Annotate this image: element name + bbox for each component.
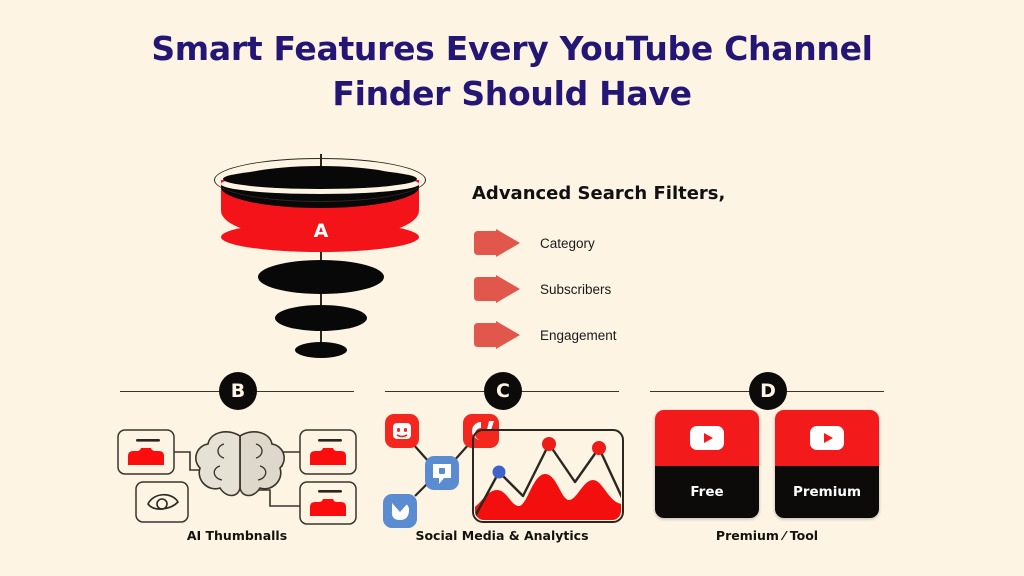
page-title-line-2: Finder Should Have — [0, 71, 1024, 116]
panel-badge-b: B — [219, 372, 257, 410]
youtube-play-icon — [690, 426, 724, 450]
filter-item-engagement: Engagement — [472, 318, 792, 352]
filter-item-subscribers: Subscribers — [472, 272, 792, 306]
youtube-play-icon — [810, 426, 844, 450]
plan-card-free[interactable]: Free — [655, 410, 759, 518]
page-title: Smart Features Every YouTube Channel Fin… — [0, 26, 1024, 116]
filter-label-engagement: Engagement — [540, 328, 617, 343]
brain-thumbnails-art — [112, 408, 362, 528]
plan-card-free-bottom: Free — [655, 466, 759, 518]
funnel-outline-ring — [214, 158, 426, 202]
advanced-search-filters: Advanced Search Filters, Category Subscr… — [472, 183, 792, 364]
plan-cards: Free Premium — [655, 410, 879, 518]
funnel-badge-a: A — [205, 220, 437, 242]
page-title-line-1: Smart Features Every YouTube Channel — [0, 26, 1024, 71]
filter-label-category: Category — [540, 236, 595, 251]
social-analytics-art — [377, 408, 627, 528]
funnel-graphic: A — [205, 152, 437, 364]
panel-badge-d: D — [749, 372, 787, 410]
panel-caption-c: Social Media & Analytics — [377, 528, 627, 543]
panel-badge-c: C — [484, 372, 522, 410]
funnel-disc-1 — [258, 260, 384, 294]
plan-label-free: Free — [690, 484, 723, 500]
thumbnail-card — [300, 482, 356, 524]
arrow-right-icon — [472, 275, 522, 303]
panel-caption-d: Premium ⁄ Tool — [642, 528, 892, 543]
panel-caption-b: AI Thumbnalls — [112, 528, 362, 543]
thumbnail-card — [118, 430, 174, 474]
panel-ai-thumbnails: B — [112, 378, 362, 553]
plan-label-premium: Premium — [793, 484, 861, 500]
plan-card-premium-top — [775, 410, 879, 466]
chat-bubble-icon — [425, 456, 459, 490]
plan-card-premium-bottom: Premium — [775, 466, 879, 518]
face-icon — [385, 414, 419, 448]
bird-icon — [383, 494, 417, 528]
preview-card — [136, 482, 188, 522]
plan-card-premium[interactable]: Premium — [775, 410, 879, 518]
filter-label-subscribers: Subscribers — [540, 282, 611, 297]
filter-item-category: Category — [472, 226, 792, 260]
plan-card-free-top — [655, 410, 759, 466]
arrow-right-icon — [472, 321, 522, 349]
thumbnail-card — [300, 430, 356, 474]
arrow-right-icon — [472, 229, 522, 257]
filters-heading: Advanced Search Filters, — [472, 183, 792, 204]
panel-social-analytics: C — [377, 378, 627, 553]
funnel-disc-2 — [275, 305, 367, 331]
funnel-disc-3 — [295, 342, 347, 358]
infographic-canvas: Smart Features Every YouTube Channel Fin… — [0, 0, 1024, 576]
panel-premium-tool: D Free Premium Premium ⁄ Tool — [642, 378, 892, 553]
